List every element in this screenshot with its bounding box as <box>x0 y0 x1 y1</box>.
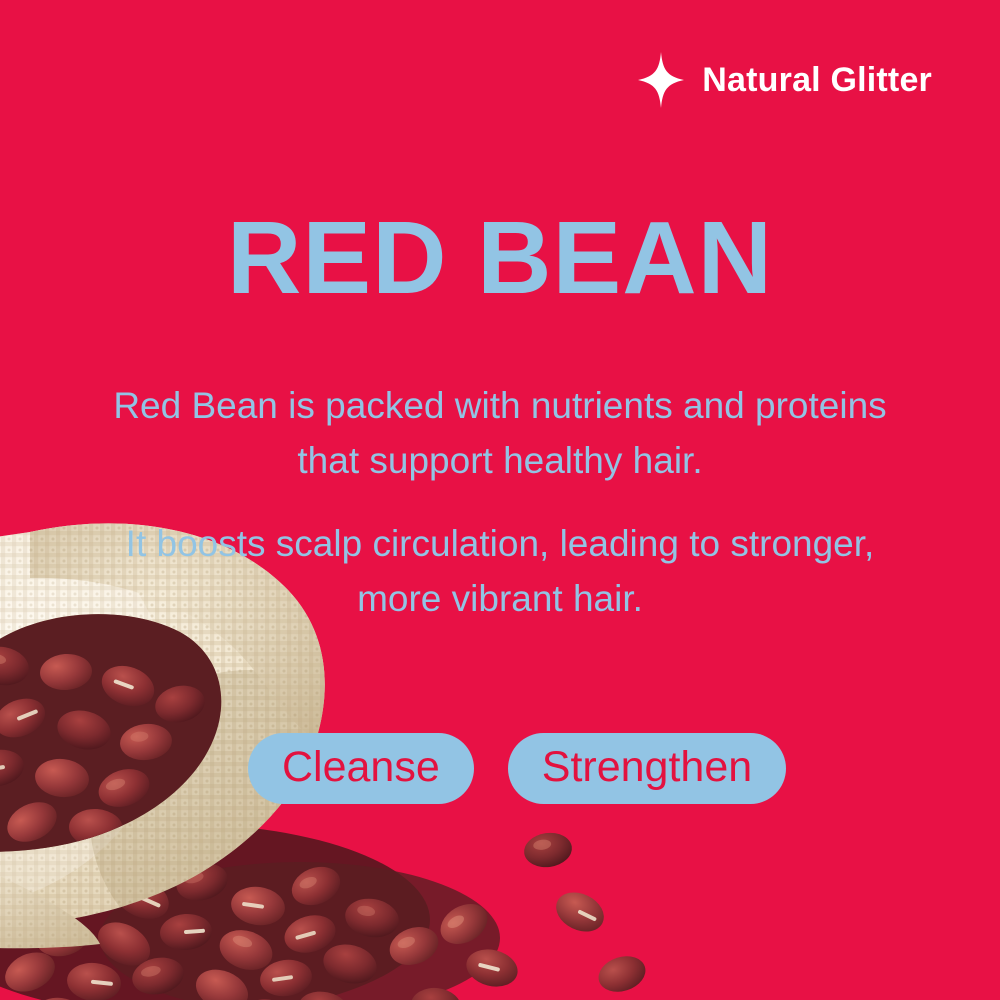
body-paragraph-1: Red Bean is packed with nutrients and pr… <box>90 378 910 488</box>
benefit-pill-group: Cleanse Strengthen <box>248 733 786 804</box>
body-copy: Red Bean is packed with nutrients and pr… <box>90 378 910 626</box>
benefit-pill-cleanse[interactable]: Cleanse <box>248 733 474 804</box>
page-title: RED BEAN <box>0 206 1000 309</box>
product-ingredient-poster: Natural Glitter RED BEAN Red Bean is pac… <box>0 0 1000 1000</box>
sparkle-four-point-icon <box>638 52 684 108</box>
benefit-pill-strengthen[interactable]: Strengthen <box>508 733 786 804</box>
brand-lockup: Natural Glitter <box>638 52 932 108</box>
body-paragraph-2: It boosts scalp circulation, leading to … <box>90 516 910 626</box>
brand-name: Natural Glitter <box>702 61 932 100</box>
